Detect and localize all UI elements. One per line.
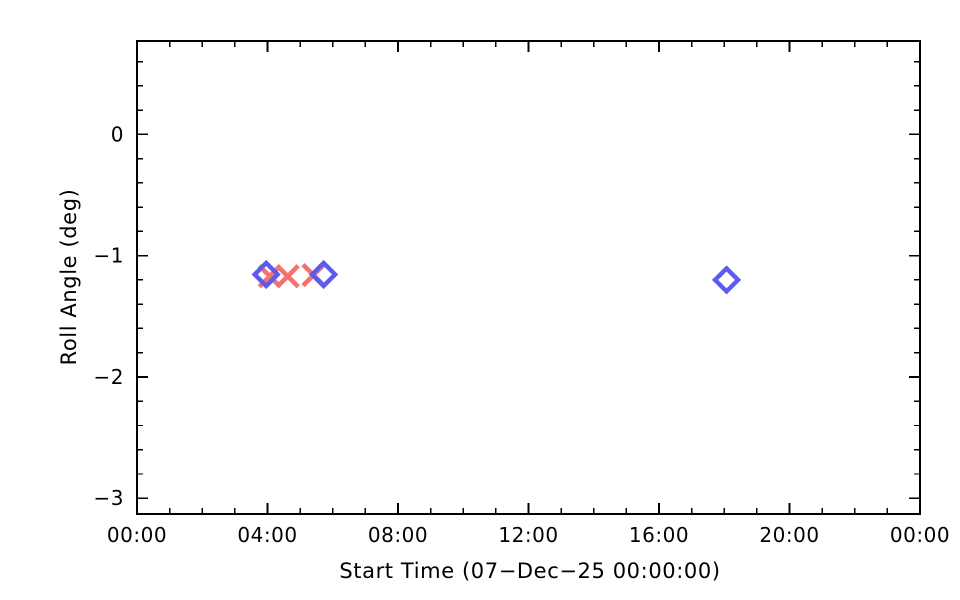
x-tick-label: 12:00 bbox=[498, 523, 558, 547]
x-tick-label: 16:00 bbox=[629, 523, 689, 547]
x-tick-label: 08:00 bbox=[368, 523, 428, 547]
x-tick-label: 20:00 bbox=[759, 523, 819, 547]
chart-canvas: 00:0004:0008:0012:0016:0020:0000:00 0−1−… bbox=[0, 0, 960, 600]
x-axis-title: Start Time (07−Dec−25 00:00:00) bbox=[339, 559, 720, 583]
y-tick-label: −1 bbox=[94, 244, 124, 268]
roll-angle-scatter-plot: 00:0004:0008:0012:0016:0020:0000:00 0−1−… bbox=[0, 0, 960, 600]
y-tick-label: −2 bbox=[94, 365, 124, 389]
y-axis-title: Roll Angle (deg) bbox=[57, 189, 81, 366]
plot-background bbox=[0, 0, 960, 600]
y-tick-label: 0 bbox=[111, 122, 124, 146]
x-tick-label: 04:00 bbox=[237, 523, 297, 547]
x-tick-label: 00:00 bbox=[107, 523, 167, 547]
y-tick-label: −3 bbox=[94, 486, 124, 510]
x-tick-label: 00:00 bbox=[890, 523, 950, 547]
